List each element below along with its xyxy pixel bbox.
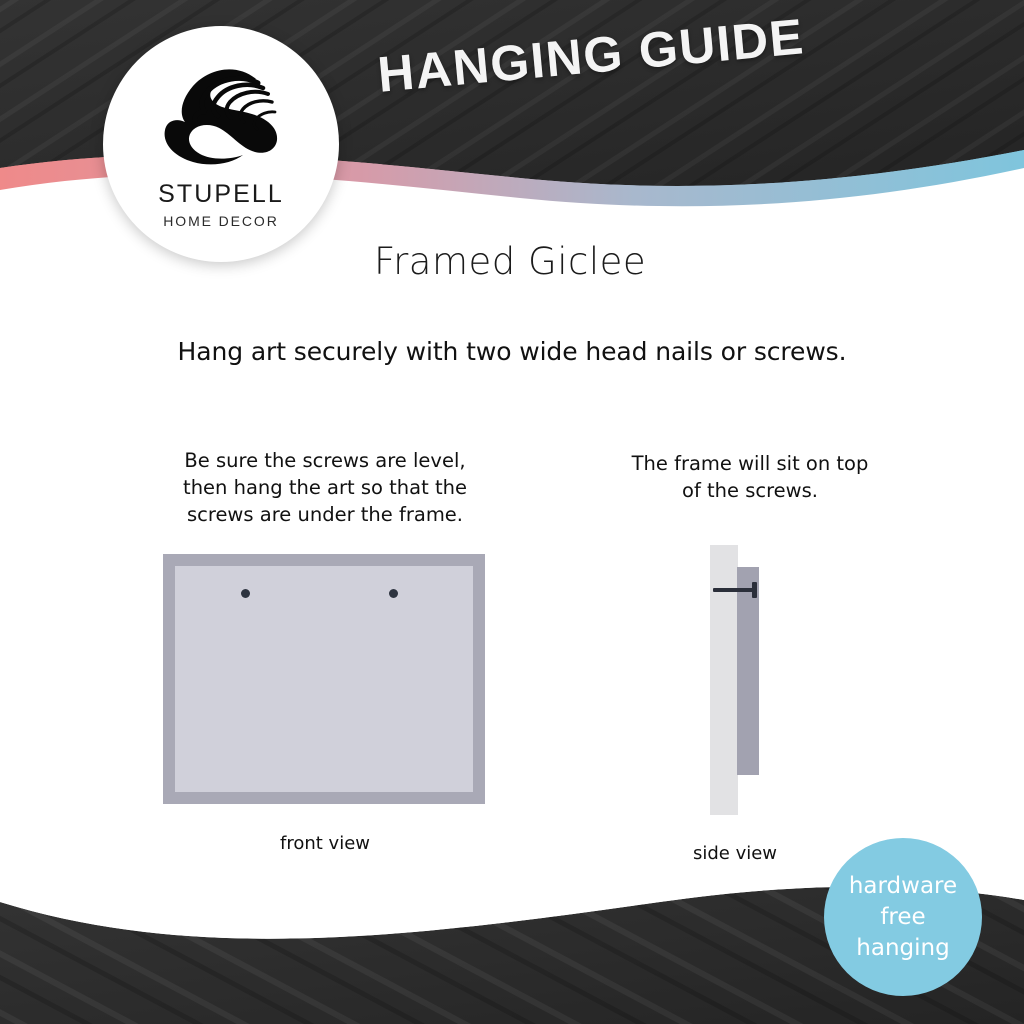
side-view-caption: The frame will sit on top of the screws.: [600, 450, 900, 504]
side-caption-line-2: of the screws.: [600, 477, 900, 504]
badge-line-3: hanging: [856, 933, 949, 963]
page-title: HANGING GUIDE: [375, 7, 806, 104]
side-view-label: side view: [620, 843, 850, 864]
front-caption-line-1: Be sure the screws are level,: [170, 447, 480, 474]
screw-dot-left: [241, 589, 250, 598]
badge-line-1: hardware: [849, 871, 957, 901]
hanging-guide-page: STUPELL HOME DECOR HANGING GUIDE Framed …: [0, 0, 1024, 1024]
front-view-caption: Be sure the screws are level, then hang …: [170, 447, 480, 528]
wall-profile: [710, 545, 738, 815]
nail-shaft-icon: [713, 588, 757, 592]
side-view-diagram: [700, 545, 820, 815]
product-name: Framed Giclee: [374, 240, 646, 283]
badge-line-2: free: [880, 902, 925, 932]
side-caption-line-1: The frame will sit on top: [600, 450, 900, 477]
hardware-free-badge: hardware free hanging: [824, 838, 982, 996]
front-caption-line-3: screws are under the frame.: [170, 501, 480, 528]
logo-tagline: HOME DECOR: [163, 213, 278, 229]
brand-logo-badge: STUPELL HOME DECOR: [103, 26, 339, 262]
stupell-swoosh-icon: [159, 56, 283, 174]
screw-dot-right: [389, 589, 398, 598]
main-instruction: Hang art securely with two wide head nai…: [0, 337, 1024, 366]
frame-profile: [737, 567, 759, 775]
front-caption-line-2: then hang the art so that the: [170, 474, 480, 501]
frame-mat: [175, 566, 473, 792]
front-view-label: front view: [200, 833, 450, 854]
front-view-diagram: [163, 554, 485, 804]
nail-head-icon: [752, 582, 757, 598]
logo-wordmark: STUPELL: [158, 180, 284, 209]
